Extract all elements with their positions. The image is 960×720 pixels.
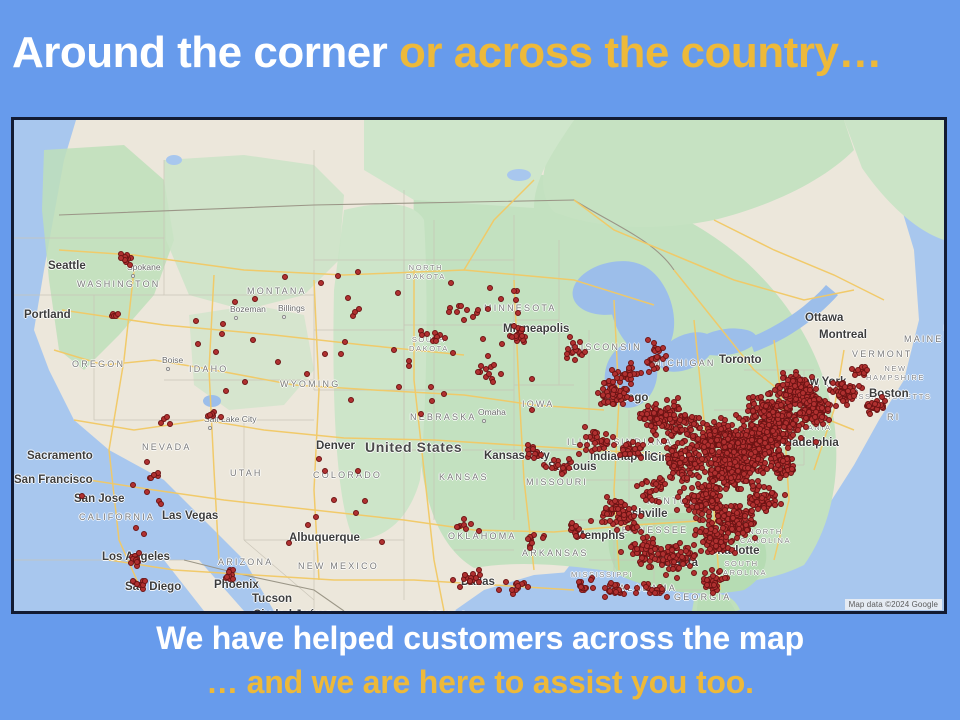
customer-marker xyxy=(741,471,747,477)
map-city-dot xyxy=(208,426,212,430)
customer-marker xyxy=(686,507,692,513)
footer-line-1: We have helped customers across the map xyxy=(0,616,960,660)
customer-marker xyxy=(584,442,590,448)
customer-marker xyxy=(252,296,258,302)
customer-marker xyxy=(709,567,715,573)
customer-marker xyxy=(676,565,682,571)
customer-marker xyxy=(543,464,549,470)
customer-marker xyxy=(220,321,226,327)
customer-marker xyxy=(572,357,578,363)
customer-marker xyxy=(780,438,786,444)
headline-gold-segment: or across the country… xyxy=(387,28,882,77)
customer-marker xyxy=(691,493,697,499)
customer-marker xyxy=(722,507,728,513)
customer-marker xyxy=(735,432,741,438)
customer-marker xyxy=(638,513,644,519)
customer-marker xyxy=(628,381,634,387)
customer-marker xyxy=(441,391,447,397)
customer-marker xyxy=(644,411,650,417)
customer-marker xyxy=(620,401,626,407)
customer-marker xyxy=(732,550,738,556)
map-container[interactable]: United StatesWASHINGTONMONTANAOREGONIDAH… xyxy=(11,117,947,614)
customer-marker xyxy=(428,384,434,390)
customer-marker xyxy=(648,423,654,429)
customer-marker xyxy=(480,336,486,342)
customer-marker xyxy=(669,547,675,553)
customer-marker xyxy=(142,578,148,584)
customer-marker xyxy=(467,578,473,584)
customer-marker xyxy=(755,456,761,462)
customer-marker xyxy=(470,314,476,320)
customer-marker xyxy=(790,421,796,427)
customer-marker xyxy=(519,333,525,339)
customer-marker xyxy=(684,475,690,481)
customer-marker xyxy=(602,594,608,600)
slide-headline: Around the corner or across the country… xyxy=(0,22,960,84)
customer-marker xyxy=(735,468,741,474)
customer-marker xyxy=(640,535,646,541)
customer-marker xyxy=(769,490,775,496)
customer-marker xyxy=(749,437,755,443)
customer-marker xyxy=(734,510,740,516)
customer-marker xyxy=(708,526,714,532)
customer-marker xyxy=(872,401,878,407)
customer-marker xyxy=(819,414,825,420)
customer-marker xyxy=(728,475,734,481)
customer-marker xyxy=(742,513,748,519)
customer-marker xyxy=(768,437,774,443)
customer-marker xyxy=(631,505,637,511)
customer-marker xyxy=(604,511,610,517)
customer-marker xyxy=(618,549,624,555)
customer-marker xyxy=(756,483,762,489)
customer-marker xyxy=(232,299,238,305)
customer-marker xyxy=(127,262,133,268)
customer-marker xyxy=(487,285,493,291)
customer-marker xyxy=(605,393,611,399)
map-city-dot xyxy=(482,419,486,423)
customer-marker xyxy=(656,499,662,505)
customer-marker xyxy=(599,519,605,525)
customer-marker xyxy=(623,386,629,392)
customer-marker xyxy=(454,309,460,315)
customer-marker xyxy=(709,498,715,504)
customer-marker xyxy=(691,542,697,548)
customer-marker xyxy=(663,366,669,372)
map-city-dot xyxy=(234,316,238,320)
customer-marker xyxy=(136,550,142,556)
customer-marker xyxy=(624,584,630,590)
customer-marker xyxy=(633,590,639,596)
customer-marker xyxy=(498,296,504,302)
customer-marker xyxy=(690,433,696,439)
customer-marker xyxy=(158,501,164,507)
customer-marker xyxy=(446,309,452,315)
customer-marker xyxy=(531,455,537,461)
customer-marker xyxy=(679,440,685,446)
customer-marker xyxy=(700,517,706,523)
customer-marker xyxy=(819,405,825,411)
customer-marker xyxy=(133,525,139,531)
customer-marker xyxy=(673,426,679,432)
map-attribution: Map data ©2024 Google xyxy=(845,599,942,610)
customer-marker xyxy=(379,539,385,545)
customer-marker xyxy=(661,438,667,444)
customer-marker xyxy=(764,429,770,435)
customer-marker xyxy=(491,362,497,368)
customer-marker xyxy=(322,351,328,357)
customer-marker xyxy=(737,503,743,509)
customer-marker xyxy=(642,416,648,422)
customer-marker xyxy=(652,546,658,552)
customer-marker xyxy=(406,363,412,369)
customer-marker xyxy=(618,520,624,526)
customer-marker xyxy=(566,465,572,471)
customer-marker xyxy=(711,582,717,588)
customer-marker xyxy=(638,455,644,461)
customer-marker xyxy=(577,442,583,448)
customer-marker xyxy=(747,470,753,476)
customer-marker xyxy=(782,492,788,498)
customer-marker xyxy=(573,523,579,529)
customer-marker xyxy=(731,449,737,455)
customer-marker xyxy=(582,349,588,355)
map-city-dot xyxy=(282,315,286,319)
customer-marker xyxy=(540,535,546,541)
customer-marker xyxy=(663,572,669,578)
customer-marker xyxy=(708,460,714,466)
customer-marker xyxy=(655,346,661,352)
customer-marker xyxy=(282,274,288,280)
customer-marker xyxy=(345,295,351,301)
customer-marker xyxy=(167,421,173,427)
customer-marker xyxy=(313,514,319,520)
customer-marker xyxy=(158,420,164,426)
customer-marker xyxy=(657,475,663,481)
customer-marker xyxy=(498,371,504,377)
customer-marker xyxy=(724,450,730,456)
customer-marker xyxy=(833,403,839,409)
customer-marker xyxy=(618,499,624,505)
customer-marker xyxy=(442,335,448,341)
customer-marker xyxy=(800,390,806,396)
customer-marker xyxy=(652,590,658,596)
customer-marker xyxy=(743,478,749,484)
map-label-state: BR xyxy=(944,323,947,333)
customer-marker xyxy=(811,401,817,407)
customer-marker xyxy=(708,438,714,444)
customer-marker xyxy=(643,584,649,590)
customer-marker xyxy=(750,408,756,414)
customer-marker xyxy=(809,374,815,380)
customer-marker xyxy=(631,513,637,519)
customer-marker xyxy=(674,575,680,581)
customer-marker xyxy=(654,416,660,422)
customer-marker xyxy=(580,533,586,539)
customer-marker xyxy=(583,434,589,440)
customer-marker xyxy=(644,479,650,485)
customer-marker xyxy=(720,525,726,531)
customer-marker xyxy=(355,269,361,275)
customer-marker xyxy=(687,563,693,569)
customer-marker xyxy=(748,451,754,457)
footer-line-2: … and we are here to assist you too. xyxy=(0,660,960,704)
customer-marker xyxy=(224,574,230,580)
customer-marker xyxy=(710,491,716,497)
customer-marker xyxy=(475,369,481,375)
customer-marker xyxy=(573,533,579,539)
customer-marker xyxy=(840,390,846,396)
customer-marker xyxy=(476,528,482,534)
customer-marker xyxy=(778,402,784,408)
customer-marker xyxy=(499,341,505,347)
customer-marker xyxy=(664,397,670,403)
customer-marker xyxy=(668,432,674,438)
customer-marker xyxy=(699,484,705,490)
customer-marker xyxy=(699,511,705,517)
customer-marker xyxy=(653,487,659,493)
slide-footer: We have helped customers across the map … xyxy=(0,616,960,704)
customer-marker xyxy=(675,494,681,500)
customer-marker xyxy=(707,546,713,552)
customer-marker xyxy=(429,398,435,404)
customer-marker xyxy=(775,412,781,418)
customer-marker xyxy=(750,483,756,489)
customer-marker xyxy=(577,339,583,345)
customer-marker xyxy=(529,407,535,413)
customer-marker xyxy=(760,470,766,476)
customer-marker xyxy=(485,306,491,312)
customer-marker xyxy=(613,589,619,595)
customer-marker xyxy=(207,412,213,418)
customer-marker xyxy=(610,434,616,440)
map-city-dot xyxy=(131,274,135,278)
customer-marker xyxy=(696,452,702,458)
customer-marker xyxy=(588,518,594,524)
customer-marker xyxy=(639,555,645,561)
customer-marker xyxy=(663,353,669,359)
customer-marker xyxy=(458,303,464,309)
customer-marker xyxy=(757,438,763,444)
customer-marker xyxy=(718,426,724,432)
customer-marker xyxy=(645,403,651,409)
customer-marker xyxy=(213,349,219,355)
customer-marker xyxy=(503,579,509,585)
customer-marker xyxy=(286,540,292,546)
customer-marker xyxy=(749,508,755,514)
customer-marker xyxy=(640,493,646,499)
customer-marker xyxy=(790,432,796,438)
customer-marker xyxy=(478,363,484,369)
customer-marker xyxy=(511,323,517,329)
customer-marker xyxy=(717,568,723,574)
customer-marker xyxy=(509,334,515,340)
customer-marker xyxy=(151,472,157,478)
customer-marker xyxy=(797,377,803,383)
customer-marker xyxy=(79,493,85,499)
customer-marker xyxy=(590,585,596,591)
customer-marker xyxy=(652,556,658,562)
customer-marker xyxy=(742,455,748,461)
customer-marker xyxy=(560,465,566,471)
customer-marker xyxy=(611,387,617,393)
customer-marker xyxy=(418,411,424,417)
map-city-dot xyxy=(166,367,170,371)
customer-marker xyxy=(849,366,855,372)
customer-marker xyxy=(476,567,482,573)
customer-marker xyxy=(634,524,640,530)
customer-marker xyxy=(318,280,324,286)
customer-marker xyxy=(566,456,572,462)
headline-white-segment: Around the corner xyxy=(12,28,387,77)
customer-marker xyxy=(525,536,531,542)
customer-marker xyxy=(707,535,713,541)
customer-marker xyxy=(164,414,170,420)
customer-marker xyxy=(727,443,733,449)
customer-marker xyxy=(740,530,746,536)
customer-marker xyxy=(688,427,694,433)
